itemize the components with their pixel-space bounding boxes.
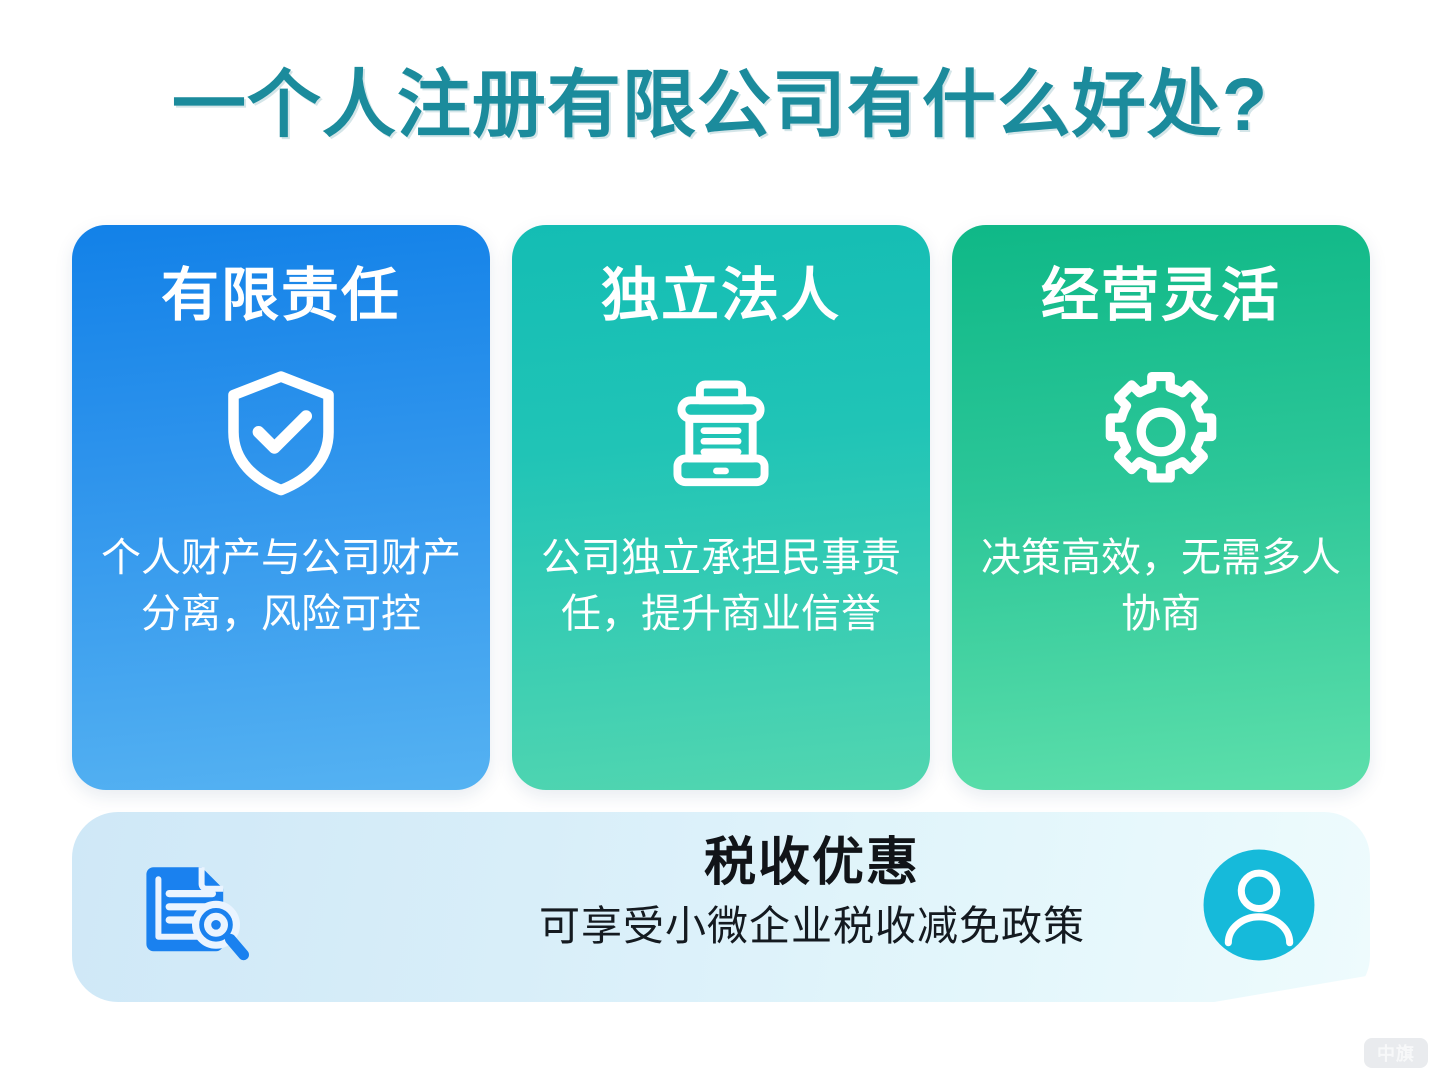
banner-text-block: 税收优惠 可享受小微企业税收减免政策 bbox=[372, 834, 1252, 951]
card-description: 个人财产与公司财产分离，风险可控 bbox=[95, 530, 467, 644]
watermark-badge: 中旗 bbox=[1364, 1038, 1428, 1068]
document-search-icon bbox=[130, 848, 254, 968]
feature-card-flexible-operation[interactable]: 经营灵活 决策高效，无需多人协商 bbox=[952, 225, 1370, 790]
feature-card-independent-legal-entity[interactable]: 独立法人 公司独立承担民事责任，提升商 bbox=[512, 225, 930, 790]
briefcase-document-icon bbox=[655, 366, 787, 498]
feature-card-limited-liability[interactable]: 有限责任 个人财产与公司财产分离，风险可控 bbox=[72, 225, 490, 790]
card-title: 有限责任 bbox=[161, 265, 401, 328]
card-title: 独立法人 bbox=[601, 265, 841, 328]
title-container: 一个人注册有限公司有什么好处? bbox=[0, 68, 1440, 142]
page-title: 一个人注册有限公司有什么好处? bbox=[0, 68, 1440, 142]
feature-cards-row: 有限责任 个人财产与公司财产分离，风险可控 独立法人 bbox=[72, 225, 1370, 790]
card-title: 经营灵活 bbox=[1041, 265, 1281, 328]
banner-subtext: 可享受小微企业税收减免政策 bbox=[372, 902, 1252, 951]
infographic-poster: 一个人注册有限公司有什么好处? 有限责任 个人财产与公司财产分离，风险可控 独立… bbox=[0, 0, 1440, 1080]
card-description: 公司独立承担民事责任，提升商业信誉 bbox=[535, 530, 907, 644]
tax-benefit-banner[interactable]: 税收优惠 可享受小微企业税收减免政策 bbox=[72, 812, 1370, 1002]
shield-check-icon bbox=[215, 366, 347, 498]
user-avatar-icon bbox=[1200, 846, 1318, 964]
card-description: 决策高效，无需多人协商 bbox=[975, 530, 1347, 644]
banner-heading: 税收优惠 bbox=[372, 834, 1252, 892]
gear-icon bbox=[1095, 366, 1227, 498]
